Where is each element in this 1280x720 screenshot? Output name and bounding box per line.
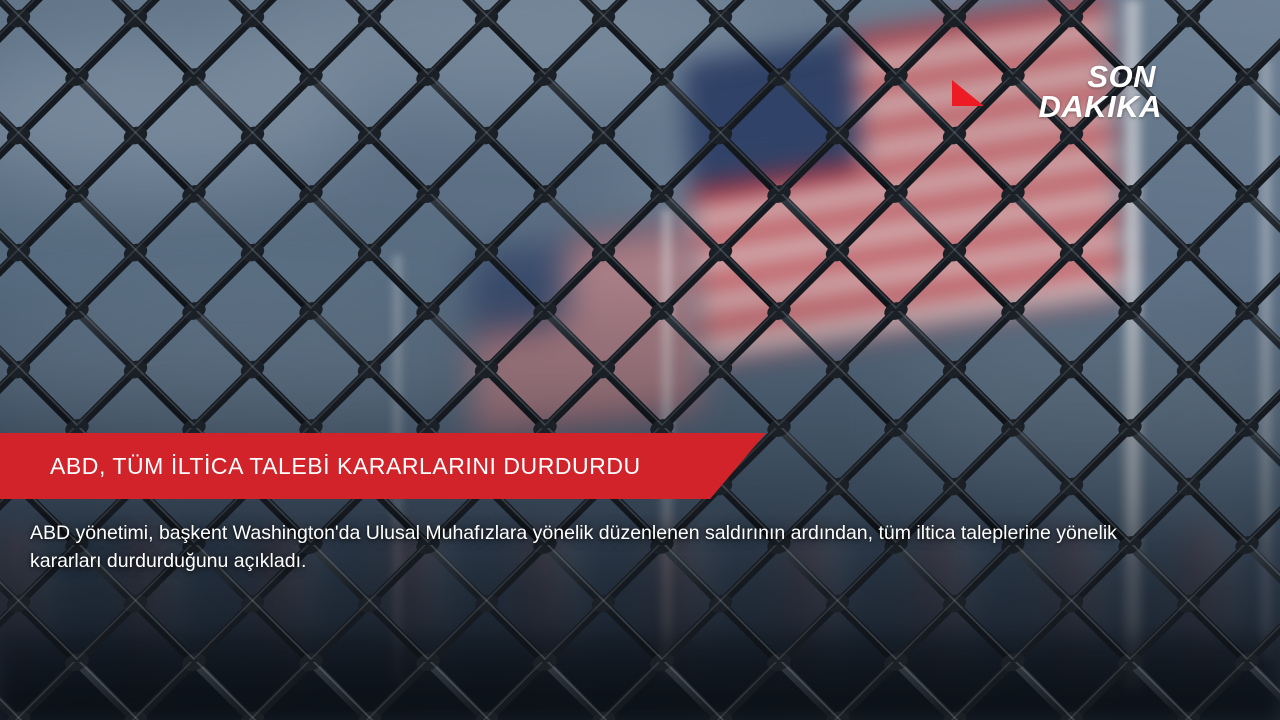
headline-banner: ABD, TÜM İLTİCA TALEBİ KARARLARINI DURDU… [0, 433, 766, 499]
description-text: ABD yönetimi, başkent Washington'da Ulus… [30, 519, 1164, 575]
logo-line-son: SON [1038, 62, 1162, 92]
logo-wordmark: SON DAKIKA [1038, 62, 1162, 122]
news-banner-card: SON DAKIKA ABD, TÜM İLTİCA TALEBİ KARARL… [0, 0, 1280, 720]
headline-text: ABD, TÜM İLTİCA TALEBİ KARARLARINI DURDU… [0, 453, 641, 480]
logo-line-dakika: DAKIKA [1038, 92, 1162, 122]
red-triangle-icon [952, 80, 984, 106]
son-dakika-logo: SON DAKIKA [952, 62, 1162, 148]
